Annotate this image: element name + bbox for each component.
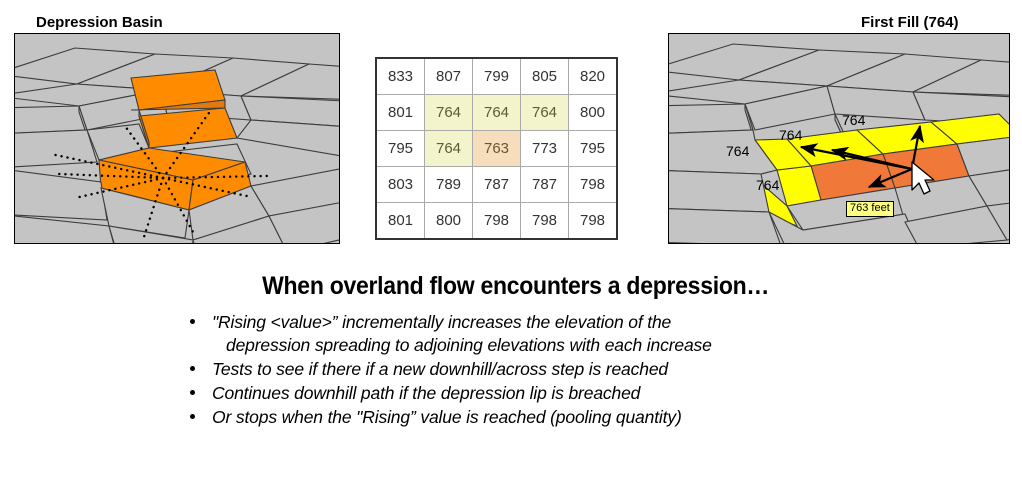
terrain-surface-right: .g{fill:#c4c4c4;stroke:#3c3c3c;stroke-wi… <box>669 34 1009 243</box>
table-row: 801 764 764 764 800 <box>376 95 617 131</box>
grid-cell: 799 <box>473 58 521 95</box>
bullet-dot-icon <box>190 366 195 371</box>
list-item-text: Continues downhill path if the depressio… <box>212 382 1022 405</box>
grid-cell: 801 <box>376 203 425 240</box>
grid-cell: 820 <box>569 58 618 95</box>
grid-cell: 798 <box>473 203 521 240</box>
grid-cell: 798 <box>569 203 618 240</box>
list-item-text: Tests to see if there if a new downhill/… <box>212 358 1022 381</box>
grid-cell-filled: 764 <box>425 95 473 131</box>
list-item: Or stops when the "Rising” value is reac… <box>0 406 1022 429</box>
bullet-dot-icon <box>190 319 195 324</box>
first-fill-viewport[interactable]: .g{fill:#c4c4c4;stroke:#3c3c3c;stroke-wi… <box>668 33 1010 244</box>
grid-cell-filled: 764 <box>473 95 521 131</box>
grid-cell-center: 763 <box>473 131 521 167</box>
list-item: Tests to see if there if a new downhill/… <box>0 358 1022 381</box>
grid-cell: 807 <box>425 58 473 95</box>
list-item-line-1: "Rising <value>” incrementally increases… <box>212 312 671 332</box>
bullet-dot-icon <box>190 390 195 395</box>
grid-cell: 795 <box>376 131 425 167</box>
fill-value-label: 764 <box>842 112 866 128</box>
table-row: 833 807 799 805 820 <box>376 58 617 95</box>
depression-basin-viewport[interactable]: .f{fill:#c4c4c4;stroke:#3c3c3c;stroke-wi… <box>14 33 340 244</box>
bullet-list: "Rising <value>” incrementally increases… <box>0 311 1022 429</box>
grid-body: 833 807 799 805 820 801 764 764 764 800 … <box>376 58 617 239</box>
grid-cell-filled: 764 <box>425 131 473 167</box>
grid-cell: 795 <box>569 131 618 167</box>
table-row: 803 789 787 787 798 <box>376 167 617 203</box>
bullet-dot-icon <box>190 414 195 419</box>
grid-cell: 833 <box>376 58 425 95</box>
explanation-block: When overland flow encounters a depressi… <box>0 272 1022 430</box>
grid-cell: 800 <box>425 203 473 240</box>
list-item-line-2: depression spreading to adjoining elevat… <box>212 334 1022 357</box>
list-item-text: Or stops when the "Rising” value is reac… <box>212 406 1022 429</box>
grid-cell: 787 <box>521 167 569 203</box>
slide-canvas: Depression Basin .f{fill:#c4c4c4;stroke:… <box>0 0 1022 478</box>
grid-cell: 787 <box>473 167 521 203</box>
elevation-grid-table: 833 807 799 805 820 801 764 764 764 800 … <box>375 57 618 240</box>
table-row: 795 764 763 773 795 <box>376 131 617 167</box>
grid-cell: 803 <box>376 167 425 203</box>
elevation-tooltip: 763 feet <box>846 201 894 217</box>
list-item: Continues downhill path if the depressio… <box>0 382 1022 405</box>
grid-cell: 773 <box>521 131 569 167</box>
grid-cell: 798 <box>569 167 618 203</box>
grid-cell: 805 <box>521 58 569 95</box>
page-title: When overland flow encounters a depressi… <box>41 272 981 301</box>
fill-value-label: 764 <box>726 143 750 159</box>
table-row: 801 800 798 798 798 <box>376 203 617 240</box>
grid-cell: 798 <box>521 203 569 240</box>
fill-value-label: 764 <box>779 127 803 143</box>
grid-cell: 789 <box>425 167 473 203</box>
terrain-surface-left: .f{fill:#c4c4c4;stroke:#3c3c3c;stroke-wi… <box>15 34 339 243</box>
list-item: "Rising <value>” incrementally increases… <box>0 311 1022 357</box>
fill-value-label: 764 <box>756 177 780 193</box>
grid-cell-filled: 764 <box>521 95 569 131</box>
grid-cell: 801 <box>376 95 425 131</box>
grid-cell: 800 <box>569 95 618 131</box>
list-item-text: "Rising <value>” incrementally increases… <box>212 311 1022 357</box>
panel-title-depression-basin: Depression Basin <box>36 14 163 31</box>
panel-title-first-fill: First Fill (764) <box>861 14 959 31</box>
